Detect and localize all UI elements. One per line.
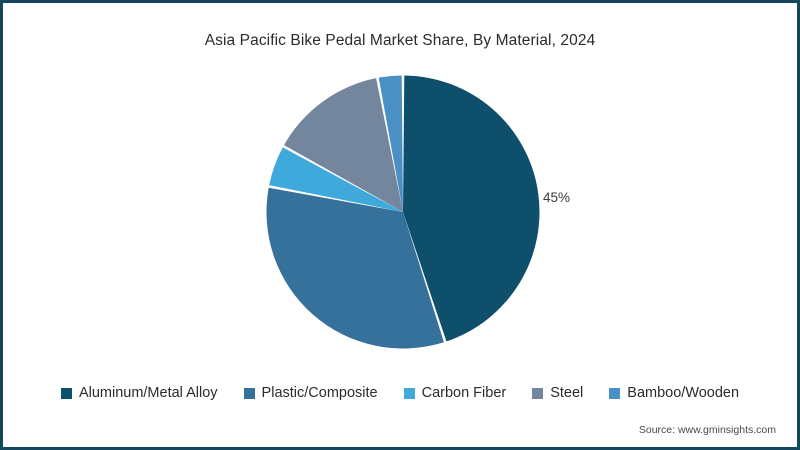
legend-item-carbon-fiber[interactable]: Carbon Fiber: [404, 385, 507, 401]
pie-slice-value-label: 45%: [543, 190, 570, 205]
pie-chart: [266, 75, 540, 349]
legend-item-bamboo-wooden[interactable]: Bamboo/Wooden: [609, 385, 739, 401]
chart-figure: Asia Pacific Bike Pedal Market Share, By…: [0, 0, 800, 450]
source-attribution: Source: www.gminsights.com: [639, 424, 776, 436]
legend-swatch-icon: [404, 388, 415, 399]
chart-legend: Aluminum/Metal Alloy Plastic/Composite C…: [0, 385, 800, 401]
legend-item-label: Bamboo/Wooden: [627, 385, 739, 401]
legend-item-label: Plastic/Composite: [262, 385, 378, 401]
legend-swatch-icon: [61, 388, 72, 399]
legend-swatch-icon: [609, 388, 620, 399]
legend-item-label: Aluminum/Metal Alloy: [79, 385, 218, 401]
legend-item-label: Steel: [550, 385, 583, 401]
legend-item-aluminum-metal-alloy[interactable]: Aluminum/Metal Alloy: [61, 385, 218, 401]
legend-swatch-icon: [244, 388, 255, 399]
chart-title: Asia Pacific Bike Pedal Market Share, By…: [0, 32, 800, 50]
legend-item-steel[interactable]: Steel: [532, 385, 583, 401]
legend-item-plastic-composite[interactable]: Plastic/Composite: [244, 385, 378, 401]
legend-item-label: Carbon Fiber: [422, 385, 507, 401]
pie-svg: [266, 75, 540, 349]
legend-swatch-icon: [532, 388, 543, 399]
